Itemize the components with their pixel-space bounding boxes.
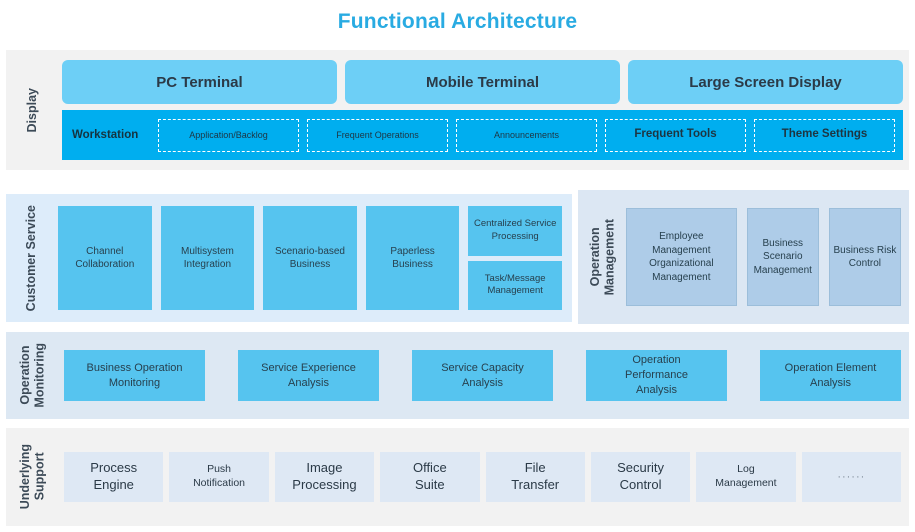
workstation-item-announcements[interactable]: Announcements: [456, 119, 597, 152]
opmon-box-service-experience-analysis[interactable]: Service Experience Analysis: [238, 350, 379, 401]
cs-stacked-column: Centralized Service Processing Task/Mess…: [468, 206, 562, 310]
functional-architecture-diagram: Functional Architecture Display PC Termi…: [0, 0, 915, 532]
display-layer-label-text: Display: [25, 88, 39, 132]
display-layer-label: Display: [6, 50, 58, 170]
customer-service-label: Customer Service: [6, 194, 56, 322]
om-box-employee-management[interactable]: Employee Management Organizational Manag…: [626, 208, 737, 306]
operation-management-label-text: Operation Management: [588, 219, 617, 295]
opmon-box-business-operation-monitoring[interactable]: Business Operation Monitoring: [64, 350, 205, 401]
terminal-box-mobile[interactable]: Mobile Terminal: [345, 60, 620, 104]
workstation-item-application-backlog[interactable]: Application/Backlog: [158, 119, 299, 152]
operation-monitoring-label-text: Operation Monitoring: [18, 343, 47, 408]
customer-service-label-text: Customer Service: [24, 205, 38, 311]
workstation-row: Workstation Application/Backlog Frequent…: [62, 110, 903, 160]
operation-monitoring-body: Business Operation Monitoring Service Ex…: [58, 332, 909, 419]
operation-management-panel: Operation Management Employee Management…: [578, 190, 909, 324]
terminal-box-pc[interactable]: PC Terminal: [62, 60, 337, 104]
us-box-file-transfer[interactable]: File Transfer: [486, 452, 585, 502]
page-title: Functional Architecture: [0, 10, 915, 34]
cs-box-centralized-service-processing[interactable]: Centralized Service Processing: [468, 206, 562, 256]
om-box-business-scenario-management[interactable]: Business Scenario Management: [747, 208, 819, 306]
underlying-support-label-text: Underlying Support: [18, 444, 47, 509]
us-box-more-ellipsis[interactable]: ······: [802, 452, 901, 502]
terminal-box-large-screen[interactable]: Large Screen Display: [628, 60, 903, 104]
underlying-support-label: Underlying Support: [6, 428, 58, 526]
terminal-row: PC Terminal Mobile Terminal Large Screen…: [62, 60, 903, 104]
cs-box-channel-collaboration[interactable]: Channel Collaboration: [58, 206, 152, 310]
cs-box-task-message-management[interactable]: Task/Message Management: [468, 261, 562, 311]
customer-service-body: Channel Collaboration Multisystem Integr…: [56, 194, 572, 322]
opmon-box-service-capacity-analysis[interactable]: Service Capacity Analysis: [412, 350, 553, 401]
workstation-item-frequent-operations[interactable]: Frequent Operations: [307, 119, 448, 152]
cs-box-multisystem-integration[interactable]: Multisystem Integration: [161, 206, 255, 310]
operation-monitoring-panel: Operation Monitoring Business Operation …: [6, 332, 909, 419]
operation-monitoring-label: Operation Monitoring: [6, 332, 58, 419]
cs-box-paperless-business[interactable]: Paperless Business: [366, 206, 460, 310]
us-box-office-suite[interactable]: Office Suite: [380, 452, 479, 502]
us-box-security-control[interactable]: Security Control: [591, 452, 690, 502]
us-box-process-engine[interactable]: Process Engine: [64, 452, 163, 502]
workstation-label: Workstation: [70, 129, 150, 141]
underlying-support-body: Process Engine Push Notification Image P…: [58, 428, 909, 526]
cs-box-scenario-based-business[interactable]: Scenario-based Business: [263, 206, 357, 310]
workstation-item-frequent-tools[interactable]: Frequent Tools: [605, 119, 746, 152]
operation-management-label: Operation Management: [578, 190, 626, 324]
us-box-log-management[interactable]: Log Management: [696, 452, 795, 502]
opmon-box-operation-performance-analysis[interactable]: Operation Performance Analysis: [586, 350, 727, 401]
display-layer-body: PC Terminal Mobile Terminal Large Screen…: [58, 50, 909, 170]
opmon-box-operation-element-analysis[interactable]: Operation Element Analysis: [760, 350, 901, 401]
operation-management-body: Employee Management Organizational Manag…: [626, 190, 909, 324]
underlying-support-panel: Underlying Support Process Engine Push N…: [6, 428, 909, 526]
us-box-push-notification[interactable]: Push Notification: [169, 452, 268, 502]
display-layer-panel: Display PC Terminal Mobile Terminal Larg…: [6, 50, 909, 170]
om-box-business-risk-control[interactable]: Business Risk Control: [829, 208, 901, 306]
workstation-item-theme-settings[interactable]: Theme Settings: [754, 119, 895, 152]
customer-service-panel: Customer Service Channel Collaboration M…: [6, 194, 572, 322]
us-box-image-processing[interactable]: Image Processing: [275, 452, 374, 502]
